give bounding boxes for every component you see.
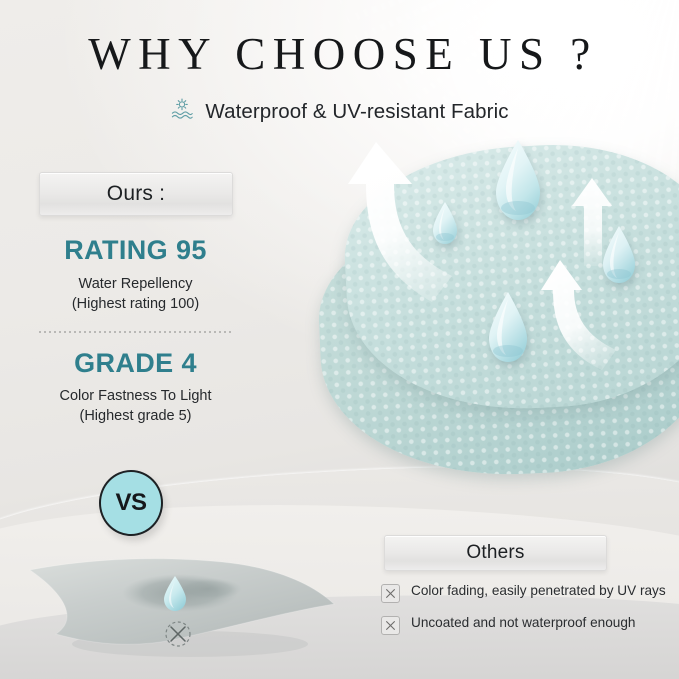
vs-badge-label: VS — [115, 489, 146, 517]
subtitle-text: Waterproof & UV-resistant Fabric — [205, 100, 508, 124]
stat-value-rating: RATING 95 — [22, 236, 249, 266]
subtitle-row: Waterproof & UV-resistant Fabric — [0, 97, 679, 126]
page-title: WHY CHOOSE US ? — [0, 28, 679, 80]
list-item-label: Color fading, easily penetrated by UV ra… — [411, 582, 666, 600]
stat-caption-grade: Color Fastness To Light (Highest grade 5… — [22, 386, 249, 426]
waterproof-fabric-illustration — [338, 132, 679, 480]
water-droplet — [428, 200, 462, 246]
x-mark-icon — [381, 616, 400, 635]
stat-caption-rating-main: Water Repellency — [79, 276, 193, 292]
sun-waves-icon — [170, 97, 194, 126]
list-item: Uncoated and not waterproof enough — [381, 614, 666, 635]
stat-caption-rating-sub: (Highest rating 100) — [22, 294, 249, 314]
vs-badge: VS — [99, 470, 163, 536]
others-panel-label: Others — [466, 542, 524, 564]
stat-caption-grade-sub: (Highest grade 5) — [22, 406, 249, 426]
ours-panel-header: Ours : — [39, 172, 233, 216]
others-bullet-list: Color fading, easily penetrated by UV ra… — [381, 582, 666, 646]
water-droplet — [596, 224, 642, 286]
stats-divider — [39, 331, 233, 333]
x-mark-icon — [381, 584, 400, 603]
why-choose-us-infographic: WHY CHOOSE US ? Waterproof & UV-resistan… — [0, 0, 679, 679]
ours-panel-label: Ours : — [107, 182, 165, 206]
ours-stats: RATING 95 Water Repellency (Highest rati… — [22, 236, 249, 426]
list-item-label: Uncoated and not waterproof enough — [411, 614, 635, 632]
stat-value-grade: GRADE 4 — [22, 349, 249, 379]
stat-block-rating: RATING 95 Water Repellency (Highest rati… — [22, 236, 249, 314]
non-waterproof-fabric-illustration — [22, 548, 342, 668]
list-item: Color fading, easily penetrated by UV ra… — [381, 582, 666, 603]
water-droplet — [486, 138, 550, 224]
stat-caption-rating: Water Repellency (Highest rating 100) — [22, 274, 249, 314]
stat-block-grade: GRADE 4 Color Fastness To Light (Highest… — [22, 349, 249, 427]
stat-caption-grade-main: Color Fastness To Light — [59, 388, 211, 404]
others-panel-header: Others — [384, 535, 607, 571]
water-droplet — [480, 290, 536, 366]
